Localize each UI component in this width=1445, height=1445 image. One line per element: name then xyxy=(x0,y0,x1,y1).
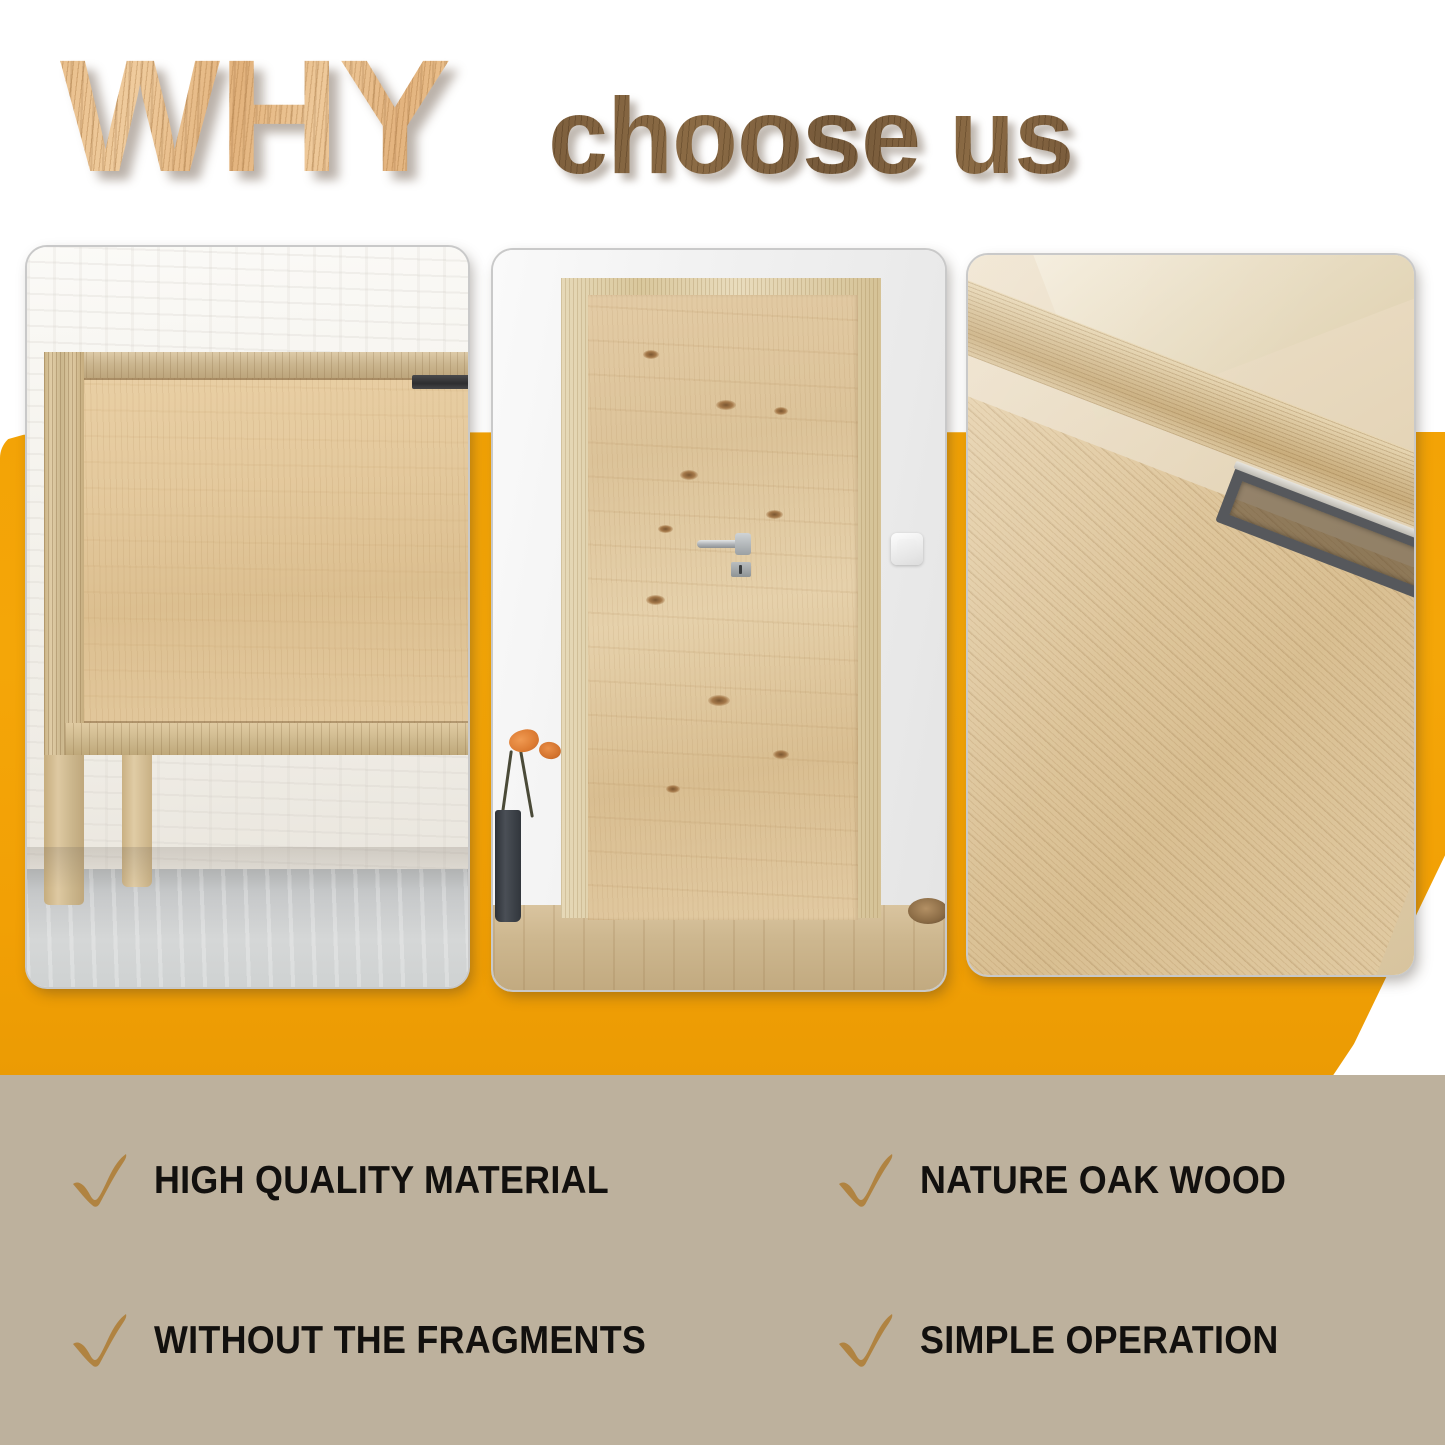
wood-knot-icon xyxy=(774,407,788,415)
check-icon xyxy=(836,1153,898,1209)
wood-knot-icon xyxy=(643,350,659,359)
photo-light-sheen xyxy=(968,255,1414,975)
wood-knot-icon xyxy=(716,400,736,410)
oak-door-photo-content xyxy=(493,250,945,990)
oak-cabinet-photo-content xyxy=(27,247,468,987)
light-switch xyxy=(891,533,923,565)
feature-label: SIMPLE OPERATION xyxy=(920,1319,1279,1363)
cabinet-flap-door xyxy=(84,378,468,723)
oak-door-photo xyxy=(493,250,945,990)
feature-label: NATURE OAK WOOD xyxy=(920,1159,1286,1203)
headline-why: WHY xyxy=(60,36,449,196)
header-banner: WHY choose us xyxy=(0,0,1445,240)
door-lock-escutcheon xyxy=(731,562,751,577)
check-icon xyxy=(70,1313,132,1369)
oak-drawer-detail-photo xyxy=(968,255,1414,975)
wood-knot-icon xyxy=(766,510,783,519)
oak-drawer-detail-content xyxy=(968,255,1414,975)
check-icon xyxy=(836,1313,898,1369)
wood-knot-icon xyxy=(708,695,730,706)
feature-item-nature-oak-wood: NATURE OAK WOOD xyxy=(836,1153,1318,1209)
feature-list: HIGH QUALITY MATERIAL NATURE OAK WOOD WI… xyxy=(0,1075,1445,1445)
feature-item-high-quality-material: HIGH QUALITY MATERIAL xyxy=(70,1153,649,1209)
wood-knot-icon xyxy=(646,595,665,605)
oak-door-leaf xyxy=(588,295,858,920)
wood-knot-icon xyxy=(680,470,698,480)
door-handle-rosette xyxy=(735,533,751,555)
feature-label: HIGH QUALITY MATERIAL xyxy=(154,1159,609,1203)
wood-knot-icon xyxy=(666,785,680,793)
feature-label: WITHOUT THE FRAGMENTS xyxy=(154,1319,646,1363)
feature-item-without-the-fragments: WITHOUT THE FRAGMENTS xyxy=(70,1313,689,1369)
cabinet-floor-shadow xyxy=(27,847,468,889)
black-floor-vase xyxy=(495,810,521,922)
feature-item-simple-operation: SIMPLE OPERATION xyxy=(836,1313,1310,1369)
headline-choose-us: choose us xyxy=(548,82,1073,190)
cabinet-bar-handle xyxy=(412,375,468,389)
feature-panel: HIGH QUALITY MATERIAL NATURE OAK WOOD WI… xyxy=(0,1075,1445,1445)
check-icon xyxy=(70,1153,132,1209)
wood-knot-icon xyxy=(658,525,673,533)
infographic-canvas: WHY choose us xyxy=(0,0,1445,1445)
oak-cabinet-photo xyxy=(27,247,468,987)
cabinet-bottom-rail xyxy=(65,723,468,755)
cabinet-top-panel xyxy=(44,352,468,378)
wood-knot-icon xyxy=(773,750,789,759)
wood-slice-decor xyxy=(908,898,945,924)
